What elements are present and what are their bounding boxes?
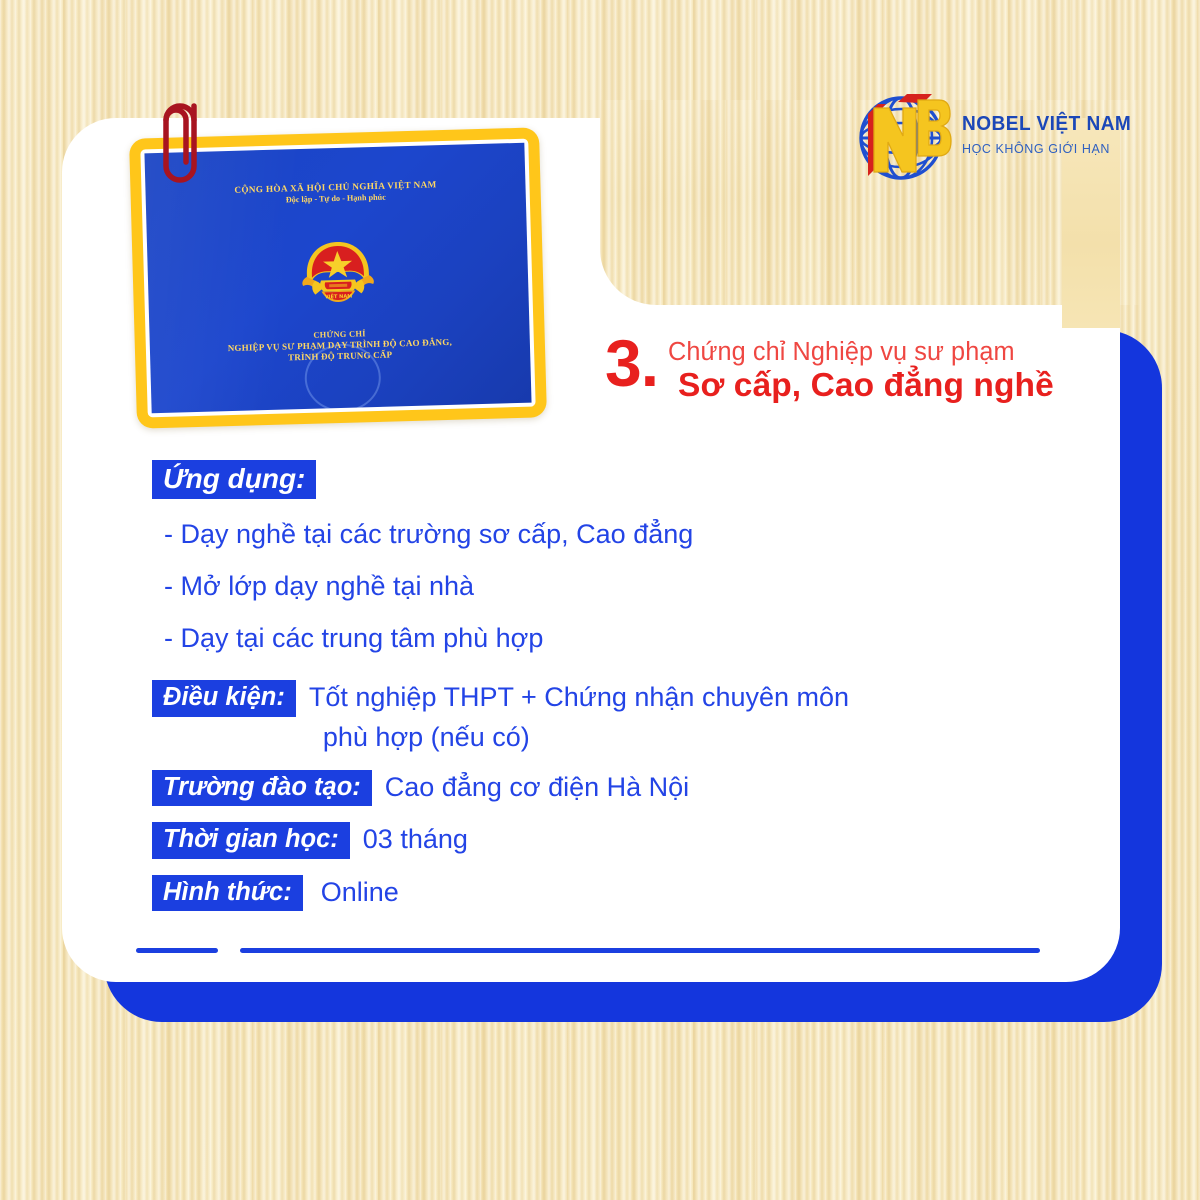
brand-logo: NOBEL VIỆT NAM HỌC KHÔNG GIỚI HẠN — [846, 92, 1116, 184]
logo-wordmark: NOBEL VIỆT NAM HỌC KHÔNG GIỚI HẠN — [962, 114, 1144, 156]
value-truong-dao-tao: Cao đẳng cơ điện Hà Nội — [385, 770, 689, 802]
list-item: - Mở lớp dạy nghề tại nhà — [164, 573, 1082, 600]
value-hinh-thuc: Online — [321, 875, 399, 907]
logo-tagline-text: HỌC KHÔNG GIỚI HẠN — [962, 141, 1133, 156]
detail-row-dieu-kien: Điều kiện: Tốt nghiệp THPT + Chứng nhận … — [152, 680, 1082, 751]
value-dieu-kien: Tốt nghiệp THPT + Chứng nhận chuyên môn … — [309, 680, 849, 751]
label-ung-dung: Ứng dụng: — [152, 460, 316, 499]
value-dieu-kien-line2: phù hợp (nếu có) — [323, 722, 849, 752]
label-dieu-kien: Điều kiện: — [152, 680, 296, 717]
globe-nb-monogram-icon — [846, 92, 956, 184]
application-list: - Dạy nghề tại các trường sơ cấp, Cao đẳ… — [152, 521, 1082, 652]
paperclip-icon — [150, 90, 220, 200]
vietnam-national-emblem-icon: VIỆT NAM — [298, 235, 378, 309]
content-body: Ứng dụng: - Dạy nghề tại các trường sơ c… — [152, 460, 1082, 911]
detail-row-thoi-gian-hoc: Thời gian học: 03 tháng — [152, 822, 1082, 859]
label-thoi-gian-hoc: Thời gian học: — [152, 822, 350, 859]
label-hinh-thuc: Hình thức: — [152, 875, 303, 912]
list-item: - Dạy nghề tại các trường sơ cấp, Cao đẳ… — [164, 521, 1082, 548]
section-heading: 3. Chứng chỉ Nghiệp vụ sư phạm Sơ cấp, C… — [600, 334, 1120, 420]
list-item: - Dạy tại các trung tâm phù hợp — [164, 625, 1082, 652]
detail-row-truong-dao-tao: Trường đào tạo: Cao đẳng cơ điện Hà Nội — [152, 770, 1082, 807]
label-truong-dao-tao: Trường đào tạo: — [152, 770, 372, 807]
heading-title: Sơ cấp, Cao đẳng nghề — [678, 367, 1054, 405]
heading-number: 3. — [605, 330, 658, 396]
heading-subtitle: Chứng chỉ Nghiệp vụ sư phạm — [668, 338, 1015, 367]
value-dieu-kien-line1: Tốt nghiệp THPT + Chứng nhận chuyên môn — [309, 682, 849, 712]
divider-long — [240, 948, 1040, 953]
value-thoi-gian-hoc: 03 tháng — [363, 822, 468, 854]
logo-brand-text: NOBEL VIỆT NAM — [962, 114, 1131, 135]
divider-short — [136, 948, 218, 953]
detail-row-hinh-thuc: Hình thức: Online — [152, 875, 1082, 912]
